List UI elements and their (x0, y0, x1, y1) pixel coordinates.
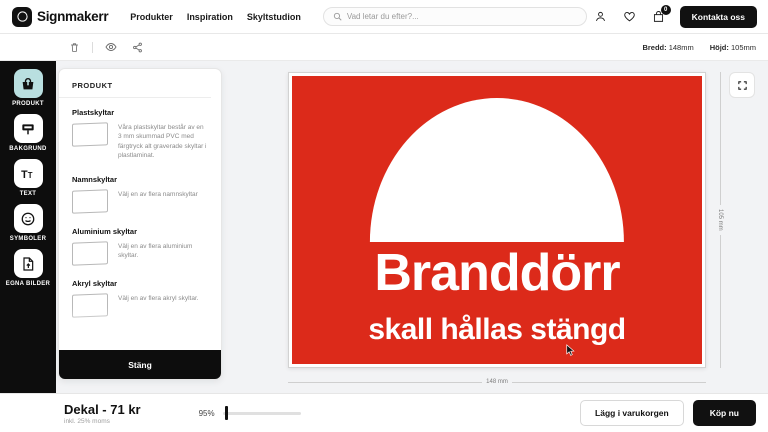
sidebar-item-text[interactable]: T T TEXT (0, 159, 56, 197)
tool-sidebar: PRODUKT BAKGRUND T T TEXT (0, 61, 56, 393)
zoom-slider-handle[interactable] (225, 406, 228, 420)
heart-icon[interactable] (622, 9, 637, 24)
product-description: Välj en av flera akryl skyltar. (118, 294, 199, 303)
contact-button[interactable]: Kontakta oss (680, 6, 757, 28)
trash-icon[interactable] (66, 39, 82, 55)
dimension-width-label: Bredd: (642, 43, 666, 52)
sidebar-label-bakgrund: BAKGRUND (9, 146, 46, 152)
product-name: Aluminium skyltar (72, 227, 208, 236)
site-header: Signmakerr Produkter Inspiration Skyltst… (0, 0, 768, 34)
signmakerr-logo-icon (12, 7, 32, 27)
brand-name: Signmakerr (37, 9, 108, 24)
svg-text:T: T (21, 169, 28, 181)
add-to-cart-button[interactable]: Lägg i varukorgen (580, 400, 684, 426)
dimension-width-value: 148mm (669, 43, 694, 52)
product-name: Akryl skyltar (72, 279, 208, 288)
sidebar-label-produkt: PRODUKT (12, 101, 44, 107)
bottom-buttons: Lägg i varukorgen Köp nu (580, 400, 756, 426)
sign-frame[interactable]: Branddörr skall hållas stängd (288, 72, 706, 368)
sign-plate-icon (72, 293, 108, 317)
ruler-bottom-label: 148 mm (486, 379, 508, 385)
dimension-width: Bredd: 148mm (642, 43, 693, 52)
product-description: Välj en av flera aluminium skyltar. (118, 242, 208, 261)
vat-note: inkl. 25% moms (64, 418, 141, 425)
product-item-namnskyltar[interactable]: Namnskyltar Välj en av flera namnskyltar (72, 175, 208, 213)
sidebar-label-text: TEXT (20, 191, 37, 197)
user-icon[interactable] (593, 9, 608, 24)
sidebar-item-egna-bilder[interactable]: EGNA BILDER (0, 249, 56, 287)
ruler-right-line-bottom (720, 235, 721, 368)
sign-plate-icon (72, 241, 108, 265)
bottom-action-bar: Dekal - 71 kr inkl. 25% moms 95% Lägg i … (0, 393, 768, 432)
buy-now-button[interactable]: Köp nu (693, 400, 756, 426)
cart-count-badge: 0 (661, 5, 671, 15)
sign-text-line1[interactable]: Branddörr (292, 247, 702, 299)
product-panel-title: PRODUKT (59, 69, 211, 98)
product-name: Plastskyltar (72, 108, 208, 117)
header-actions: 0 Kontakta oss (593, 6, 757, 28)
dimension-height: Höjd: 105mm (710, 43, 756, 52)
sidebar-label-egna-bilder: EGNA BILDER (6, 281, 50, 287)
sign-plate-icon (72, 189, 108, 213)
product-description: Våra plastskyltar består av en 3 mm skum… (118, 123, 208, 161)
ruler-right-label: 105 mm (717, 209, 723, 231)
ruler-bottom: 148 mm (288, 379, 706, 385)
sidebar-label-symboler: SYMBOLER (10, 236, 46, 242)
sign-plate-icon (72, 122, 108, 146)
search-placeholder: Vad letar du efter?... (347, 12, 419, 21)
product-name: Namnskyltar (72, 175, 208, 184)
search-icon (333, 8, 342, 26)
nav-item-skyltstudion[interactable]: Skyltstudion (247, 12, 301, 22)
ruler-right-line-top (720, 72, 721, 205)
sidebar-item-produkt[interactable]: PRODUKT (0, 69, 56, 107)
mouse-pointer-icon (566, 344, 574, 356)
svg-text:T: T (27, 171, 32, 180)
share-icon[interactable] (129, 39, 145, 55)
ruler-bottom-line-right (512, 382, 706, 383)
product-panel: PRODUKT Plastskyltar Våra plastskyltar b… (58, 68, 222, 380)
zoom-slider[interactable] (223, 412, 301, 415)
ruler-bottom-line-left (288, 382, 482, 383)
half-dome-shape-icon (370, 98, 624, 242)
close-panel-button[interactable]: Stäng (59, 350, 221, 379)
sign-artboard[interactable]: Branddörr skall hållas stängd (292, 76, 702, 364)
price-label: Dekal - 71 kr (64, 402, 141, 417)
search-input[interactable]: Vad letar du efter?... (323, 7, 587, 26)
sidebar-item-symboler[interactable]: SYMBOLER (0, 204, 56, 242)
brand-logo[interactable]: Signmakerr (12, 7, 108, 27)
product-item-plastskyltar[interactable]: Plastskyltar Våra plastskyltar består av… (72, 108, 208, 161)
zoom-level-label: 95% (199, 409, 215, 418)
product-list: Plastskyltar Våra plastskyltar består av… (59, 98, 221, 317)
cart-icon[interactable]: 0 (651, 9, 666, 24)
background-sign-icon (14, 114, 43, 143)
text-tt-icon: T T (14, 159, 43, 188)
product-item-aluminium-skyltar[interactable]: Aluminium skyltar Välj en av flera alumi… (72, 227, 208, 265)
sidebar-item-bakgrund[interactable]: BAKGRUND (0, 114, 56, 152)
toolbar-actions (66, 39, 145, 55)
product-bag-icon (14, 69, 43, 98)
product-item-akryl-skyltar[interactable]: Akryl skyltar Välj en av flera akryl sky… (72, 279, 208, 317)
dimension-height-label: Höjd: (710, 43, 729, 52)
nav-item-inspiration[interactable]: Inspiration (187, 12, 233, 22)
dimension-height-value: 105mm (731, 43, 756, 52)
zoom-control[interactable]: 95% (199, 409, 301, 418)
main-nav: Produkter Inspiration Skyltstudion (130, 12, 301, 22)
nav-item-produkter[interactable]: Produkter (130, 12, 173, 22)
expand-fullscreen-icon[interactable] (729, 72, 755, 98)
upload-file-icon (14, 249, 43, 278)
sign-preview-wrapper[interactable]: Branddörr skall hållas stängd 148 mm 105… (288, 72, 706, 368)
sign-dimensions: Bredd: 148mm Höjd: 105mm (642, 43, 756, 52)
product-description: Välj en av flera namnskyltar (118, 190, 198, 199)
editor-toolbar: Bredd: 148mm Höjd: 105mm (0, 34, 768, 61)
ruler-right: 105 mm (717, 72, 723, 368)
eye-icon[interactable] (103, 39, 119, 55)
smiley-icon (14, 204, 43, 233)
signmakerr-editor-app: Signmakerr Produkter Inspiration Skyltst… (0, 0, 768, 432)
toolbar-divider (92, 42, 93, 53)
price-summary: Dekal - 71 kr inkl. 25% moms (64, 402, 141, 425)
sign-text-line2[interactable]: skall hållas stängd (292, 315, 702, 345)
